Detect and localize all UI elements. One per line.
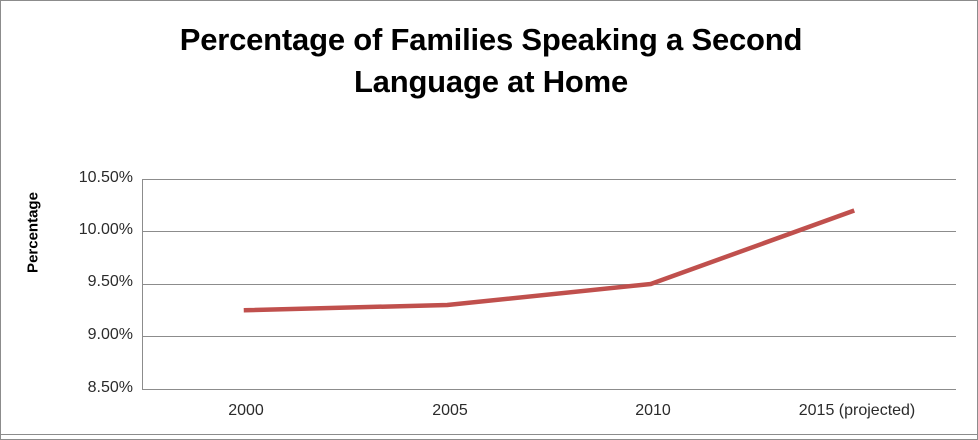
y-tick-label: 10.00% [23,221,133,239]
y-tick-label: 8.50% [23,379,133,397]
gridline [142,389,956,390]
y-axis-tick-labels: 10.50% 10.00% 9.50% 9.00% 8.50% [15,1,133,440]
x-tick-label: 2010 [635,402,671,420]
y-tick-label: 10.50% [23,169,133,187]
chart-title-line-1: Percentage of Families Speaking a Second [180,22,803,57]
x-tick-label: 2000 [228,402,264,420]
chart-container: Percentage of Families Speaking a Second… [0,0,978,440]
plot-area [142,179,956,389]
chart-title-line-2: Language at Home [354,64,628,99]
series-line-percentage [142,179,956,389]
y-tick-label: 9.50% [23,273,133,291]
chart-title: Percentage of Families Speaking a Second… [91,19,891,103]
y-tick-label: 9.00% [23,326,133,344]
bottom-divider [1,434,978,435]
x-tick-label: 2005 [432,402,468,420]
x-tick-label: 2015 (projected) [799,402,916,420]
